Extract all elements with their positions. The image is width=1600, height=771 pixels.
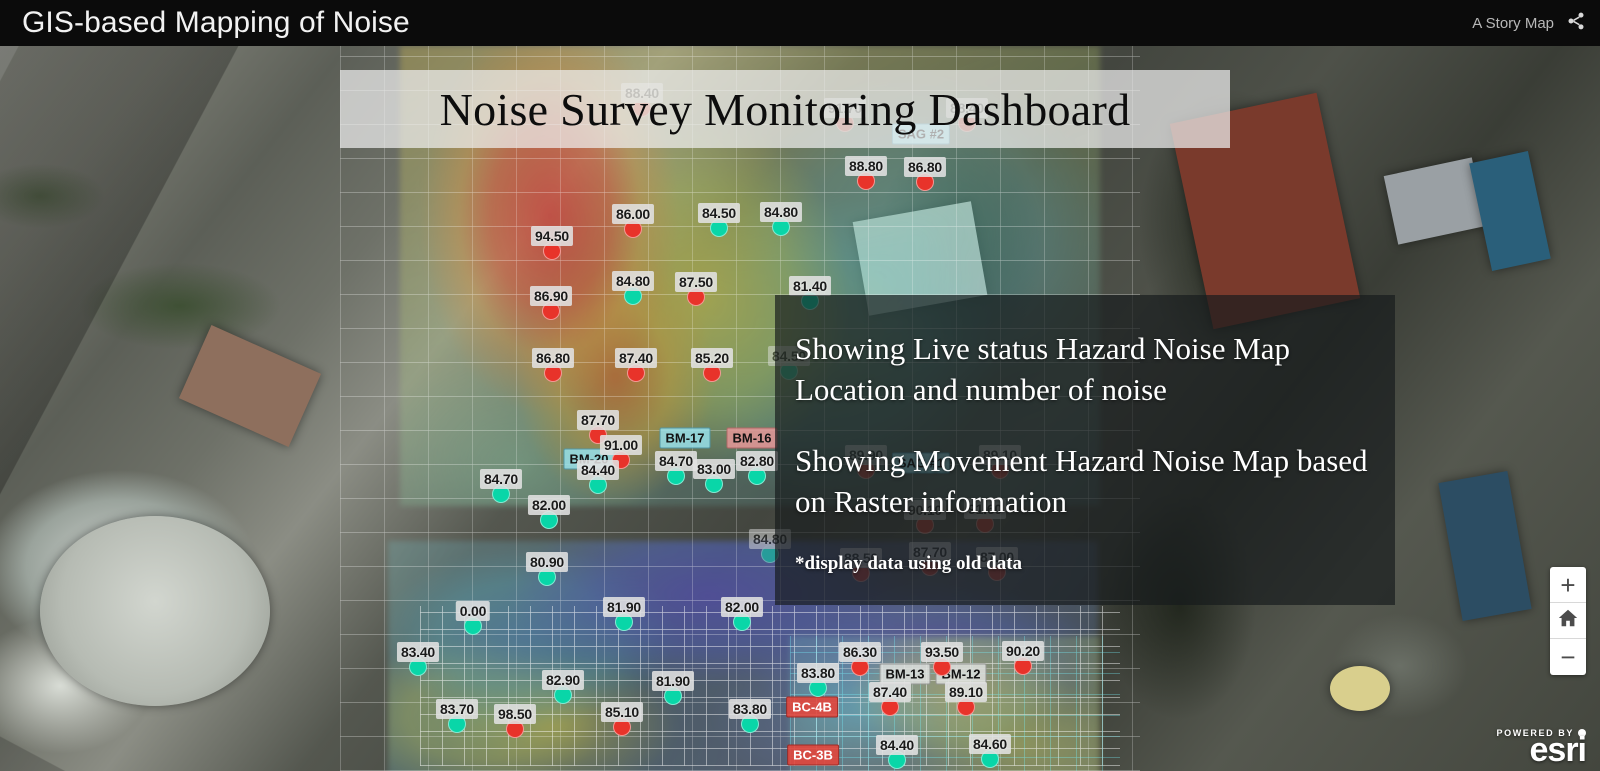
noise-value-label: 0.00	[456, 601, 490, 621]
noise-point-marker[interactable]: 83.80	[741, 715, 759, 733]
page-title: GIS-based Mapping of Noise	[22, 6, 410, 40]
noise-point-marker[interactable]: 90.20	[1014, 657, 1032, 675]
noise-point-marker[interactable]: 87.50	[687, 288, 705, 306]
noise-point-marker[interactable]: 84.50	[710, 219, 728, 237]
home-icon	[1557, 607, 1579, 634]
story-map-label: A Story Map	[1472, 15, 1554, 32]
noise-value-label: 81.40	[789, 276, 831, 296]
noise-point-marker[interactable]: 83.00	[705, 475, 723, 493]
noise-value-label: 87.70	[577, 410, 619, 430]
noise-value-label: 90.20	[1002, 641, 1044, 661]
noise-point-marker[interactable]: 82.80	[748, 467, 766, 485]
noise-value-label: 83.00	[693, 459, 735, 479]
noise-point-marker[interactable]: 87.40	[881, 698, 899, 716]
noise-value-label: 86.30	[839, 642, 881, 662]
noise-point-marker[interactable]: 82.90	[554, 686, 572, 704]
noise-value-label: 84.60	[969, 734, 1011, 754]
noise-value-label: 81.90	[603, 597, 645, 617]
noise-value-label: 87.40	[615, 348, 657, 368]
noise-value-label: 84.70	[480, 469, 522, 489]
asset-tag[interactable]: BM-16	[726, 428, 777, 449]
noise-point-marker[interactable]: 98.50	[506, 720, 524, 738]
noise-point-marker[interactable]: 84.60	[981, 750, 999, 768]
noise-value-label: 98.50	[494, 704, 536, 724]
esri-attribution: POWERED BY esri	[1496, 728, 1586, 765]
noise-value-label: 82.90	[542, 670, 584, 690]
noise-value-label: 87.40	[869, 682, 911, 702]
noise-value-label: 84.40	[876, 735, 918, 755]
noise-point-marker[interactable]: 88.80	[857, 172, 875, 190]
noise-point-marker[interactable]: 81.90	[615, 613, 633, 631]
noise-point-marker[interactable]: 94.50	[543, 242, 561, 260]
asset-tag[interactable]: BC-3B	[787, 745, 839, 766]
noise-point-marker[interactable]: 86.00	[624, 220, 642, 238]
noise-point-marker[interactable]: 89.10	[957, 698, 975, 716]
noise-value-label: 86.80	[532, 348, 574, 368]
noise-value-label: 89.10	[945, 682, 987, 702]
info-line-1: Showing Live status Hazard Noise Map Loc…	[795, 329, 1375, 411]
noise-value-label: 82.00	[528, 495, 570, 515]
noise-value-label: 84.80	[612, 271, 654, 291]
noise-point-marker[interactable]: 84.70	[667, 467, 685, 485]
dashboard-title: Noise Survey Monitoring Dashboard	[440, 83, 1131, 136]
dashboard-title-band: Noise Survey Monitoring Dashboard	[340, 70, 1230, 148]
noise-point-marker[interactable]: 83.40	[409, 658, 427, 676]
noise-point-marker[interactable]: 86.80	[544, 364, 562, 382]
noise-value-label: 83.80	[797, 663, 839, 683]
asset-tag[interactable]: BM-17	[659, 428, 710, 449]
noise-value-label: 84.80	[760, 202, 802, 222]
building-footprint	[1330, 666, 1390, 711]
noise-value-label: 87.50	[675, 272, 717, 292]
noise-value-label: 91.00	[600, 435, 642, 455]
header-right-group: A Story Map	[1472, 11, 1586, 36]
noise-point-marker[interactable]: 84.80	[772, 218, 790, 236]
noise-point-marker[interactable]: 93.50	[933, 658, 951, 676]
noise-value-label: 86.80	[904, 157, 946, 177]
noise-value-label: 85.10	[601, 702, 643, 722]
noise-point-marker[interactable]: 83.70	[448, 715, 466, 733]
noise-point-marker[interactable]: 82.00	[733, 613, 751, 631]
noise-value-label: 82.80	[736, 451, 778, 471]
noise-point-marker[interactable]: 85.20	[703, 364, 721, 382]
noise-value-label: 84.50	[698, 203, 740, 223]
plus-icon: +	[1560, 572, 1575, 598]
noise-point-marker[interactable]: 86.30	[851, 658, 869, 676]
noise-point-marker[interactable]: 83.80	[809, 679, 827, 697]
noise-point-marker[interactable]: 84.40	[589, 476, 607, 494]
share-icon[interactable]	[1566, 11, 1586, 36]
minus-icon: −	[1560, 644, 1575, 670]
noise-point-marker[interactable]: 85.10	[613, 718, 631, 736]
zoom-in-button[interactable]: +	[1550, 567, 1586, 603]
noise-value-label: 94.50	[531, 226, 573, 246]
noise-point-marker[interactable]: 84.70	[492, 485, 510, 503]
asset-tag[interactable]: BC-4B	[786, 697, 838, 718]
map-zoom-controls[interactable]: + −	[1550, 567, 1586, 675]
esri-logo: esri	[1496, 736, 1586, 765]
noise-point-marker[interactable]: 84.40	[888, 751, 906, 769]
noise-value-label: 80.90	[526, 552, 568, 572]
noise-point-marker[interactable]: 82.00	[540, 511, 558, 529]
noise-value-label: 83.70	[436, 699, 478, 719]
story-map-page: GIS-based Mapping of Noise A Story Map	[0, 0, 1600, 771]
app-header: GIS-based Mapping of Noise A Story Map	[0, 0, 1600, 46]
noise-point-marker[interactable]: 84.80	[624, 287, 642, 305]
noise-value-label: 93.50	[921, 642, 963, 662]
noise-point-marker[interactable]: 86.90	[542, 302, 560, 320]
zoom-out-button[interactable]: −	[1550, 639, 1586, 675]
noise-value-label: 82.00	[721, 597, 763, 617]
noise-value-label: 85.20	[691, 348, 733, 368]
home-button[interactable]	[1550, 603, 1586, 639]
noise-value-label: 83.80	[729, 699, 771, 719]
noise-value-label: 86.00	[612, 204, 654, 224]
info-panel: Showing Live status Hazard Noise Map Loc…	[775, 295, 1395, 605]
info-note: *display data using old data	[795, 553, 1375, 576]
noise-point-marker[interactable]: 86.80	[916, 173, 934, 191]
noise-value-label: 86.90	[530, 286, 572, 306]
noise-point-marker[interactable]: 87.40	[627, 364, 645, 382]
noise-point-marker[interactable]: 0.00	[464, 617, 482, 635]
noise-point-marker[interactable]: 81.90	[664, 687, 682, 705]
info-line-2: Showing Movement Hazard Noise Map based …	[795, 441, 1375, 523]
noise-point-marker[interactable]: 80.90	[538, 568, 556, 586]
noise-value-label: 81.90	[652, 671, 694, 691]
noise-value-label: 88.80	[845, 156, 887, 176]
noise-value-label: 84.40	[577, 460, 619, 480]
noise-value-label: 84.70	[655, 451, 697, 471]
noise-value-label: 83.40	[397, 642, 439, 662]
building-footprint	[40, 516, 270, 706]
